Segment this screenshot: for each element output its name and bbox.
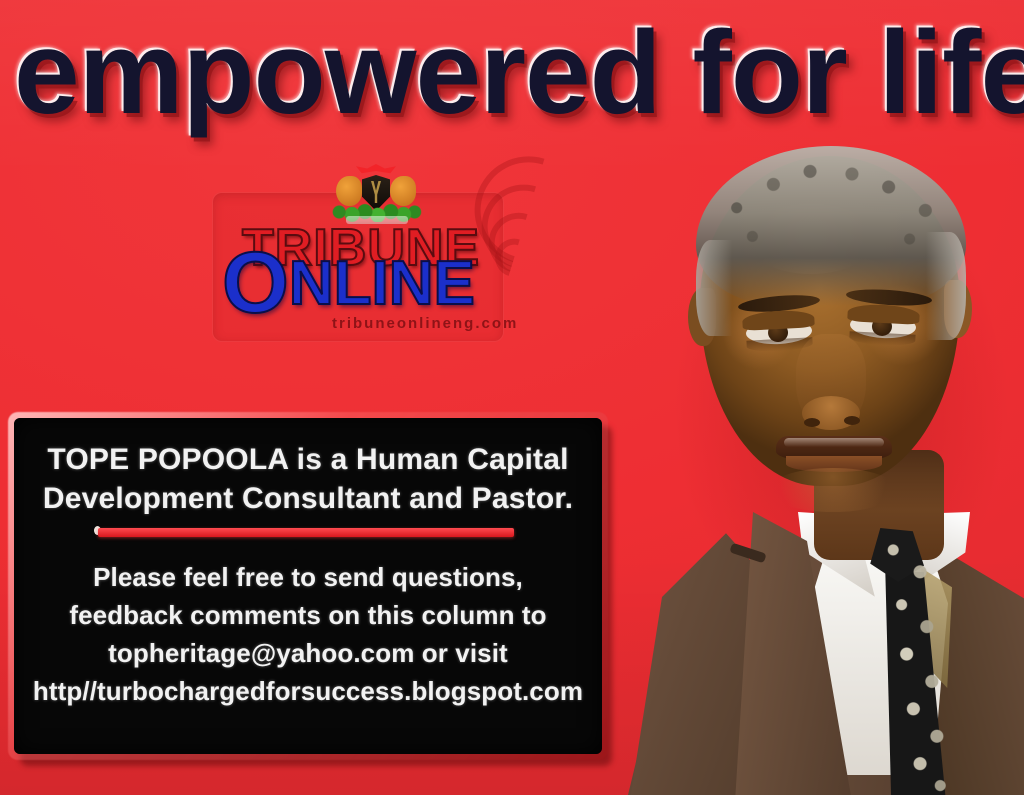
contact-line-2: feedback comments on this column to xyxy=(28,596,588,634)
logo-online-rest: NLINE xyxy=(289,249,475,318)
tribune-online-logo[interactable]: TRIBUNE ONLINE tribuneonlineng.com xyxy=(206,160,536,360)
temple-right xyxy=(926,232,966,340)
contact-url-line[interactable]: http//turbochargedforsuccess.blogspot.co… xyxy=(28,672,588,710)
logo-word-online: ONLINE xyxy=(222,252,475,315)
divider-bar xyxy=(98,528,514,537)
nigeria-coat-of-arms-icon xyxy=(326,164,426,226)
temple-left xyxy=(696,240,732,336)
logo-tagline: tribuneonlineng.com xyxy=(332,315,518,332)
caption-box: TOPE POPOOLA is a Human Capital Developm… xyxy=(14,418,602,754)
nostril-right xyxy=(844,416,860,425)
bio-line-2: Development Consultant and Pastor. xyxy=(36,479,580,518)
bio-line-1: TOPE POPOOLA is a Human Capital xyxy=(36,440,580,479)
eye-right xyxy=(849,312,916,339)
caption-divider xyxy=(94,526,514,538)
teeth-highlight xyxy=(784,438,884,447)
logo-online-initial: O xyxy=(222,235,289,331)
contact-line-1: Please feel free to send questions, xyxy=(28,558,588,596)
headline-text: empowered for life xyxy=(14,8,1024,138)
portrait-photo xyxy=(600,120,1024,795)
contact-email-line[interactable]: topheritage@yahoo.com or visit xyxy=(28,634,588,672)
bio-text: TOPE POPOOLA is a Human Capital Developm… xyxy=(36,440,580,518)
eye-left xyxy=(745,318,812,345)
chin xyxy=(768,468,898,512)
banner-image: empowered for life TRIBUNE ONLINE tribun… xyxy=(0,0,1024,795)
contact-text: Please feel free to send questions, feed… xyxy=(28,558,588,710)
nostril-left xyxy=(804,418,820,427)
